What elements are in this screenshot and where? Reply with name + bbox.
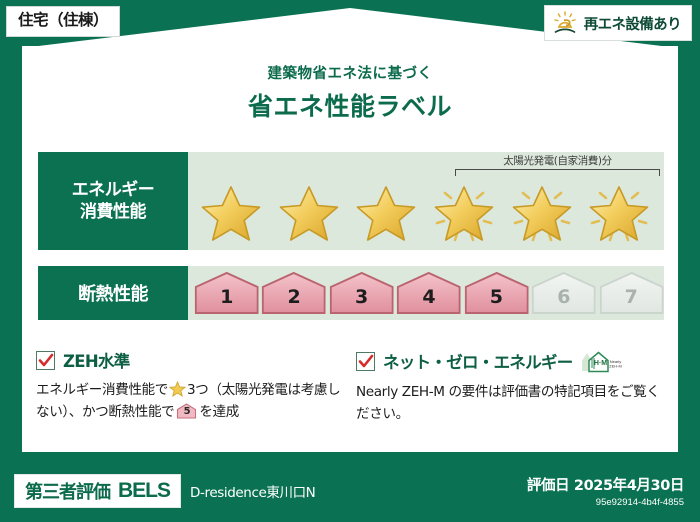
star-1 [194,179,272,247]
note-nze-header: ネット・ゼロ・エネルギー H·M Nearly ZEH-M [356,348,662,374]
solar-bracket [455,169,660,176]
insulation-grade-1: 1 [194,271,259,315]
grade-value: 4 [396,271,461,315]
note-zeh-header: ZEH水準 [36,348,342,372]
star-5 [505,179,583,247]
svg-text:ZEH-M: ZEH-M [609,364,622,369]
note-nze-title: ネット・ゼロ・エネルギー [383,349,573,373]
sun-icon [552,11,578,35]
solar-note-caption: 太陽光発電(自家消費)分 [455,153,660,168]
title-subtitle: 建築物省エネ法に基づく [0,62,700,83]
third-party-eval-label: 第三者評価 [25,478,110,504]
star-2 [272,179,350,247]
building-name: D-residence東川口N [190,481,315,501]
note-zeh-text-1: エネルギー消費性能で [36,382,168,398]
star-6 [582,179,660,247]
evaluation-date-label: 評価日 [527,478,569,494]
svg-text:H·M: H·M [594,360,607,367]
insulation-grade-5: 5 [464,271,529,315]
energy-row-label: エネルギー 消費性能 [38,152,188,250]
criteria-notes: ZEH水準 エネルギー消費性能で3つ（太陽光発電は考慮しない）、かつ断熱性能で5… [36,348,676,425]
star-icon [431,183,497,245]
checkbox-net-zero-energy [356,352,375,371]
note-nze-body: Nearly ZEH-M の要件は評価書の特記項目をご覧ください。 [356,381,662,425]
star-3 [349,179,427,247]
check-icon [38,352,54,369]
energy-row-content: 太陽光発電(自家消費)分 [188,152,664,250]
renewable-badge-label: 再エネ設備あり [584,13,681,34]
star-4 [427,179,505,247]
star-icon [509,183,575,245]
bels-logo-text: BELS [118,479,170,503]
insulation-row-label: 断熱性能 [38,266,188,320]
title-main: 省エネ性能ラベル [0,87,700,123]
energy-performance-row: エネルギー 消費性能 太陽光発電(自家消費)分 [38,152,664,250]
house-grade-icon-value: 5 [176,403,197,419]
insulation-grade-scale: 1234567 [194,266,664,320]
renewable-energy-badge: 再エネ設備あり [544,5,692,41]
note-zeh-text-3: を達成 [199,404,239,420]
grade-value: 2 [261,271,326,315]
grade-value: 5 [464,271,529,315]
evaluation-id: 95e92914-4b4f-4855 [527,497,684,508]
building-type-tag: 住宅（住棟） [6,6,120,37]
label-footer: 第三者評価 BELS D-residence東川口N 評価日 2025年4月30… [0,460,700,522]
energy-row-label-line1: エネルギー [72,179,155,201]
star-icon [276,183,342,245]
house-grade-icon: 5 [176,403,197,419]
grade-value: 6 [531,271,596,315]
insulation-grade-4: 4 [396,271,461,315]
energy-row-label-line2: 消費性能 [80,201,146,223]
insulation-grade-3: 3 [329,271,394,315]
energy-star-rating [194,178,660,248]
evaluation-date-value: 2025年4月30日 [574,478,684,494]
grade-value: 1 [194,271,259,315]
insulation-row-content: 1234567 [188,266,664,320]
insulation-grade-7: 7 [599,271,664,315]
energy-performance-label: 住宅（住棟） 再エネ設備あり 建築物省エネ法に基づく 省エネ性能ラベル エネルギ… [0,0,700,522]
star-icon [586,183,652,245]
footer-evaluation-info: 評価日 2025年4月30日 95e92914-4b4f-4855 [527,474,684,508]
grade-value: 3 [329,271,394,315]
solar-self-consumption-annotation: 太陽光発電(自家消費)分 [455,153,660,176]
insulation-grade-2: 2 [261,271,326,315]
note-net-zero-energy: ネット・ゼロ・エネルギー H·M Nearly ZEH-M Nearly ZEH… [356,348,676,425]
note-zeh-standard: ZEH水準 エネルギー消費性能で3つ（太陽光発電は考慮しない）、かつ断熱性能で5… [36,348,356,425]
star-icon [198,183,264,245]
nearly-zeh-m-logo: H·M Nearly ZEH-M [581,348,623,374]
grade-value: 7 [599,271,664,315]
evaluation-date: 評価日 2025年4月30日 [527,474,684,495]
note-zeh-title: ZEH水準 [63,348,130,372]
checkbox-zeh-standard [36,351,55,370]
star-icon [169,381,186,397]
label-title-block: 建築物省エネ法に基づく 省エネ性能ラベル [0,62,700,123]
star-icon [353,183,419,245]
insulation-performance-row: 断熱性能 1234567 [38,266,664,320]
bels-certification-box: 第三者評価 BELS [14,474,181,508]
insulation-grade-6: 6 [531,271,596,315]
check-icon [358,353,374,370]
note-zeh-body: エネルギー消費性能で3つ（太陽光発電は考慮しない）、かつ断熱性能で5を達成 [36,379,342,423]
